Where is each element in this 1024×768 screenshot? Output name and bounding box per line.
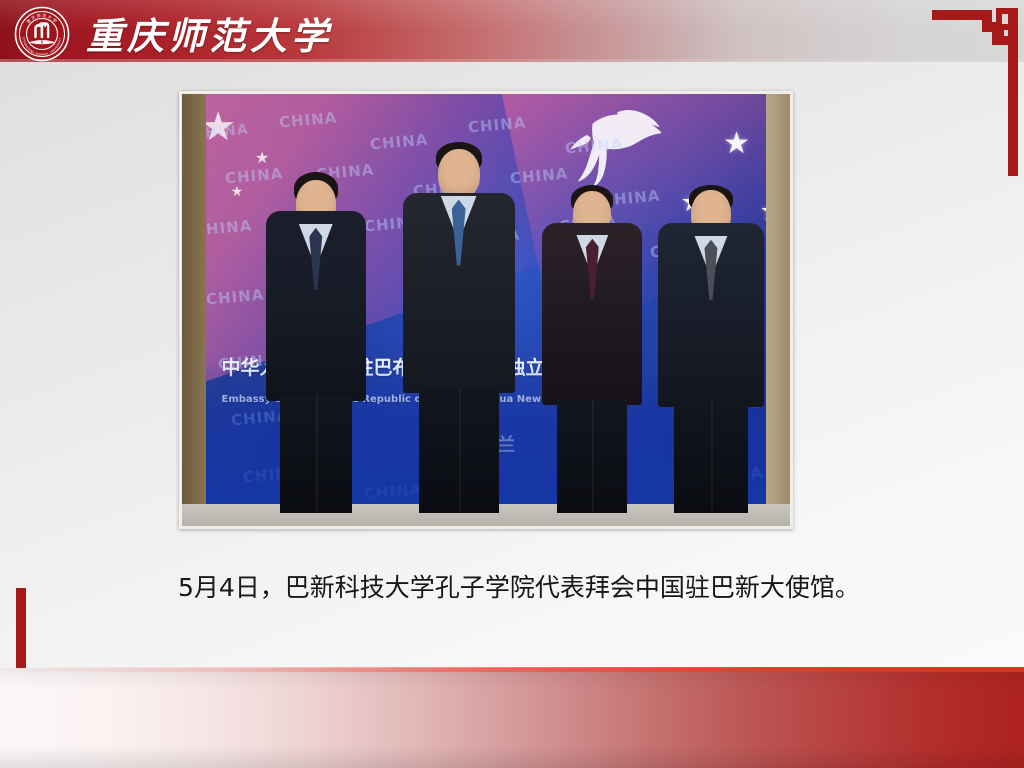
slide-header-band: 重庆师范大学 CHONGQING NORMAL UNIVERSITY 重庆师范大… [0,0,1024,62]
person-4 [650,185,772,513]
person-2 [395,142,523,514]
university-seal-icon: 重庆师范大学 CHONGQING NORMAL UNIVERSITY [14,6,70,62]
photo-caption: 5月4日，巴新科技大学孔子学院代表拜会中国驻巴新大使馆。 [178,571,938,605]
photo-frame: ★ ★ ★ ★ ★ ★ ★ ★ CHINA CHINA CHINA CHINA … [179,91,793,529]
person-legs [557,399,627,513]
person-1 [255,172,377,513]
university-wordmark: 重庆师范大学 [86,5,332,61]
person-legs [280,395,352,513]
chinese-corner-bracket-icon-top-right [914,0,1024,180]
person-legs [674,401,748,513]
footer-highlight-stripe [0,667,1024,672]
person-3 [535,185,651,513]
person-legs [419,387,499,513]
slide-footer-band [0,668,1024,768]
group-photo-embassy: ★ ★ ★ ★ ★ ★ ★ ★ CHINA CHINA CHINA CHINA … [182,94,790,526]
person-head [438,149,480,199]
room-wall-left [182,94,206,526]
